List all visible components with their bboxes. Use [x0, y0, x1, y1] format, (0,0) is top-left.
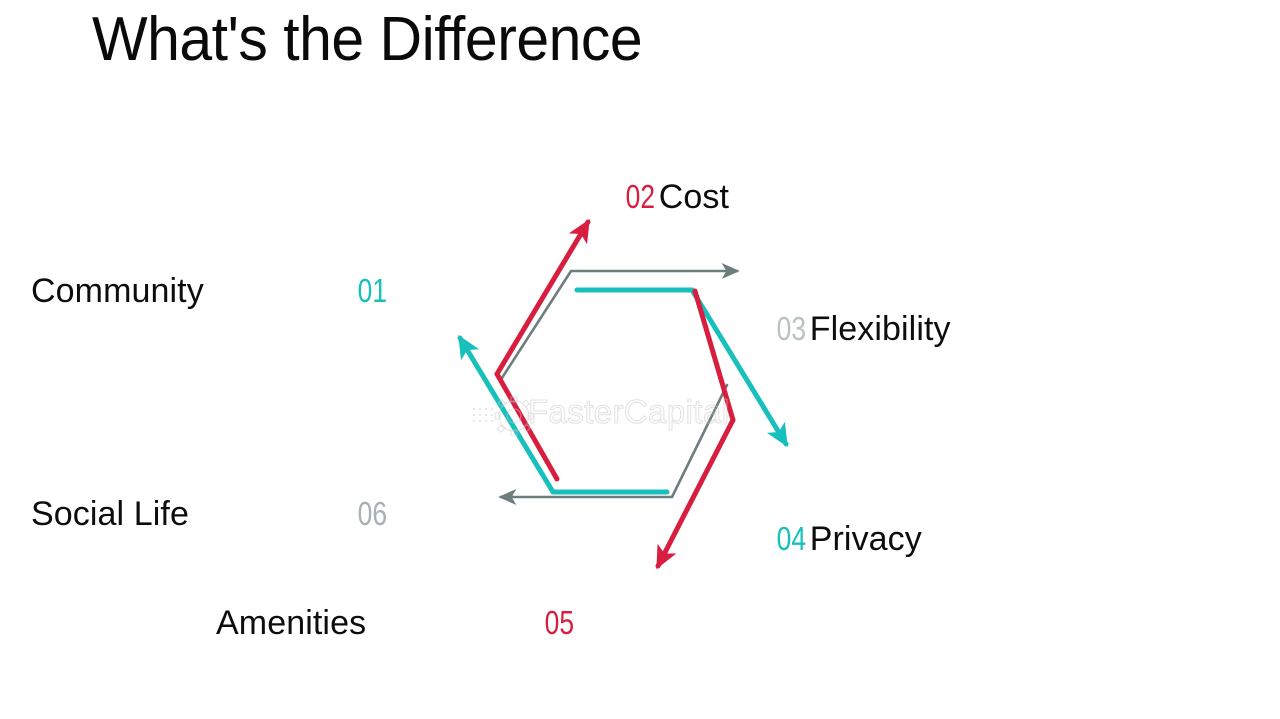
- label-community: Community 01: [31, 272, 391, 311]
- label-privacy-number: 04: [777, 520, 806, 558]
- label-cost: 02 Cost: [611, 178, 729, 217]
- label-amenities-number: 05: [545, 604, 574, 642]
- label-cost-text: Cost: [659, 178, 729, 217]
- label-flexibility-number: 03: [777, 310, 806, 348]
- watermark-text: FasterCapital: [528, 393, 729, 431]
- label-social-life-text: Social Life: [31, 495, 189, 534]
- label-flexibility: 03 Flexibility: [762, 310, 951, 349]
- label-community-number: 01: [358, 272, 387, 310]
- crimson-ring: [497, 222, 733, 566]
- gray-ring: [500, 271, 788, 497]
- label-flexibility-text: Flexibility: [810, 310, 951, 349]
- slide-canvas: What's the Difference: [0, 0, 1280, 719]
- page-title: What's the Difference: [92, 2, 642, 78]
- gear-icon: [470, 392, 770, 440]
- label-privacy-text: Privacy: [810, 520, 922, 559]
- teal-ring: [460, 290, 786, 492]
- watermark: FasterCapital: [470, 392, 770, 440]
- label-amenities: Amenities 05: [216, 604, 578, 643]
- label-amenities-text: Amenities: [216, 604, 366, 643]
- label-social-life-number: 06: [358, 495, 387, 533]
- hexagon-cycle-diagram: [0, 0, 1280, 719]
- label-cost-number: 02: [626, 178, 655, 216]
- label-social-life: Social Life 06: [31, 495, 391, 534]
- label-privacy: 04 Privacy: [762, 520, 922, 559]
- label-community-text: Community: [31, 272, 204, 311]
